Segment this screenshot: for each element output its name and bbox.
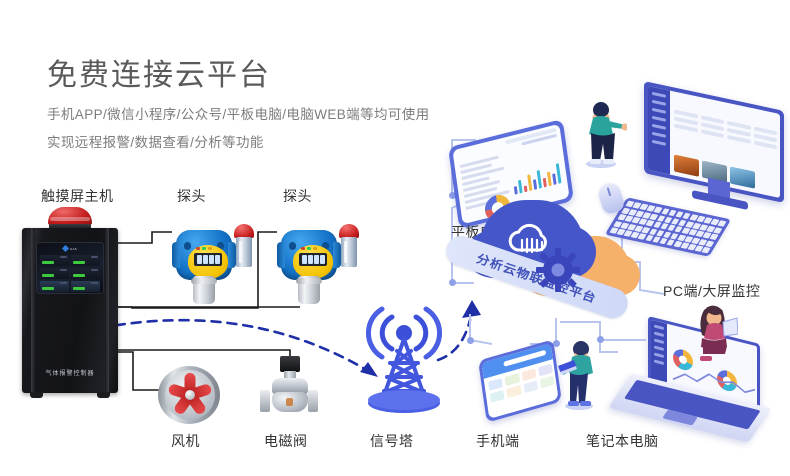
probe-sensor-stem (298, 276, 320, 304)
device-gas-probe-1[interactable] (172, 222, 236, 306)
device-pc-monitor[interactable] (636, 96, 786, 208)
device-controller[interactable]: GAS 气体报警控制器 (22, 228, 118, 393)
phone-screen (481, 343, 558, 419)
label-controller: 触摸屏主机 (41, 186, 114, 206)
probe-status-leds (196, 247, 212, 250)
pc-sidebar (648, 86, 670, 175)
channel-cell (71, 268, 100, 279)
valve-solenoid-coil (280, 356, 300, 372)
probe-faceplate (293, 245, 333, 279)
alarm-beacon-icon (48, 207, 92, 230)
label-probe-2: 探头 (283, 186, 312, 206)
pc-content-grid (674, 109, 777, 149)
route-node-dot (467, 337, 474, 344)
route-node-dot (449, 279, 456, 286)
person-sitting-icon (690, 304, 738, 370)
controller-channel-grid (40, 255, 100, 292)
channel-cell (40, 255, 69, 266)
label-pc: PC端/大屏监控 (663, 281, 760, 301)
diagram-canvas: 免费连接云平台 手机APP/微信小程序/公众号/平板电脑/电脑WEB端等均可使用… (0, 0, 790, 476)
controller-screen[interactable]: GAS (36, 242, 104, 294)
laptop-sidebar (651, 320, 667, 384)
probe-sensor-stem (193, 276, 215, 304)
page-title: 免费连接云平台 (47, 50, 271, 94)
person-pointing-icon (581, 100, 627, 168)
label-fan: 风机 (171, 431, 200, 451)
probe-lcd-display (299, 253, 327, 266)
subtitle-line-2: 实现远程报警/数据查看/分析等功能 (47, 131, 264, 151)
channel-cell (71, 255, 100, 266)
device-mobile-phone[interactable] (478, 339, 562, 422)
device-gas-probe-2[interactable] (277, 222, 341, 306)
label-tower: 信号塔 (370, 431, 414, 451)
channel-cell (71, 281, 100, 292)
gear-icon (536, 248, 580, 292)
channel-cell (40, 268, 69, 279)
channel-cell (40, 281, 69, 292)
signal-tower-icon (356, 305, 452, 417)
probe-alarm-light-icon (339, 224, 359, 270)
device-signal-tower[interactable] (356, 305, 452, 417)
probe-housing (176, 230, 232, 280)
probe-alarm-light-icon (234, 224, 254, 270)
probe-housing (281, 230, 337, 280)
fan-inner (165, 370, 215, 420)
probe-lcd-display (194, 253, 222, 266)
probe-status-leds (301, 247, 317, 250)
person-with-laptop-icon (558, 338, 600, 410)
device-exhaust-fan[interactable] (158, 366, 220, 424)
label-probe-1: 探头 (177, 186, 206, 206)
subtitle-line-1: 手机APP/微信小程序/公众号/平板电脑/电脑WEB端等均可使用 (47, 103, 430, 123)
tablet-bar-chart (512, 161, 562, 195)
controller-logo: GAS (63, 246, 77, 251)
controller-device-name: 气体报警控制器 (22, 368, 118, 377)
label-phone: 手机端 (476, 431, 520, 451)
probe-faceplate (188, 245, 228, 279)
label-laptop: 笔记本电脑 (586, 431, 659, 451)
cloud-platform-graphic: 分析云物联监控平台 (480, 200, 640, 310)
label-valve: 电磁阀 (264, 431, 308, 451)
device-solenoid-valve[interactable] (258, 356, 320, 420)
controller-feet (28, 392, 112, 398)
